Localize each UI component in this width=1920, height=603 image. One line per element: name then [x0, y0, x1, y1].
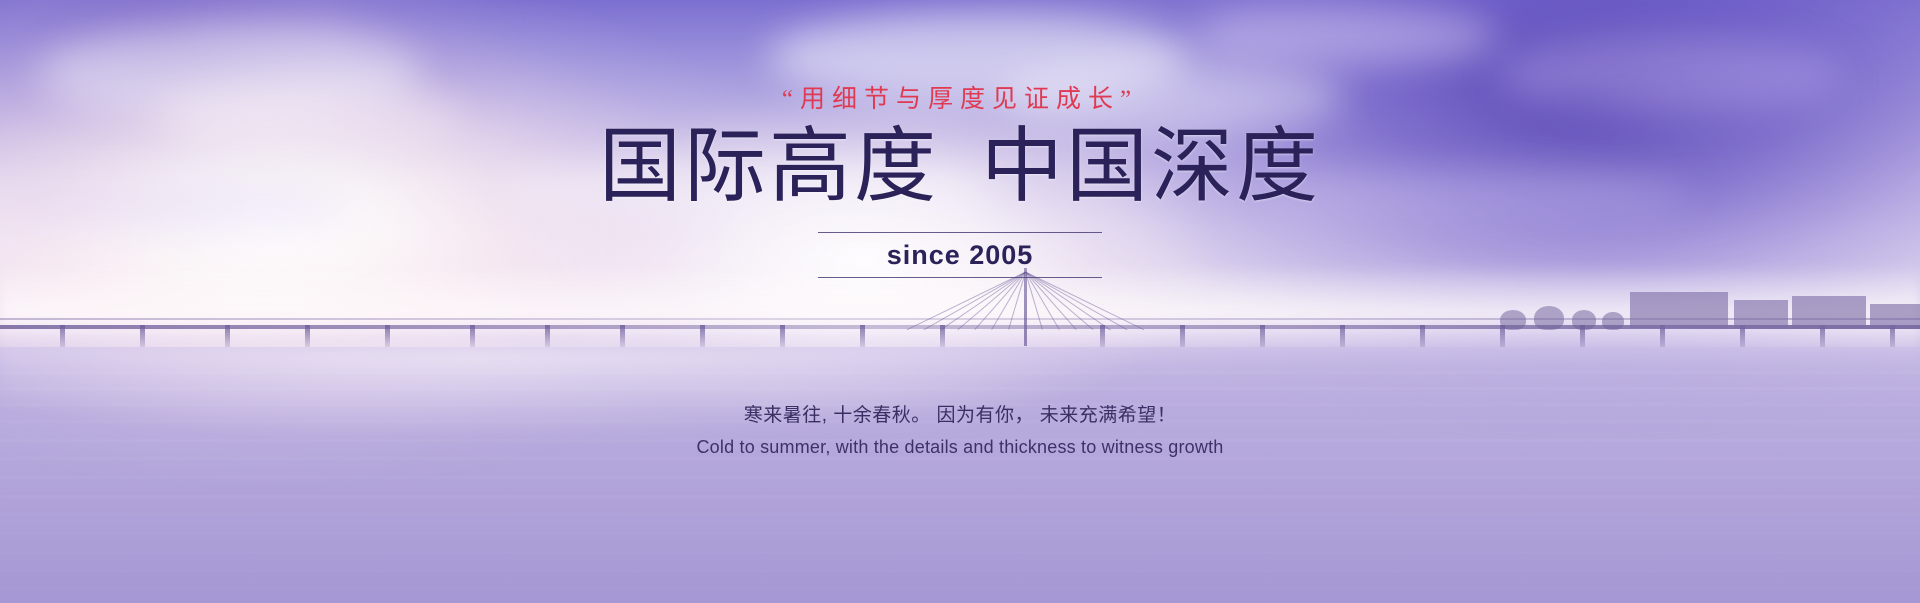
banner-headline: 国际高度中国深度 — [0, 124, 1920, 211]
since-label: since 2005 — [887, 233, 1034, 277]
since-divider-bottom — [818, 277, 1102, 278]
footer-text-english: Cold to summer, with the details and thi… — [0, 437, 1920, 458]
headline-part-one: 国际高度 — [599, 121, 939, 212]
footer-text-chinese: 寒来暑往, 十余春秋。 因为有你， 未来充满希望！ — [0, 400, 1920, 427]
banner-footer: 寒来暑往, 十余春秋。 因为有你， 未来充满希望！ Cold to summer… — [0, 400, 1920, 458]
banner-tagline: “用细节与厚度见证成长” — [0, 79, 1920, 115]
headline-part-two: 中国深度 — [981, 121, 1321, 212]
since-divider-top — [818, 232, 1102, 233]
hero-banner: “用细节与厚度见证成长” 国际高度中国深度 since 2005 寒来暑往, 十… — [0, 0, 1920, 603]
since-block: since 2005 — [0, 232, 1920, 278]
banner-content: “用细节与厚度见证成长” 国际高度中国深度 since 2005 寒来暑往, 十… — [0, 0, 1920, 603]
